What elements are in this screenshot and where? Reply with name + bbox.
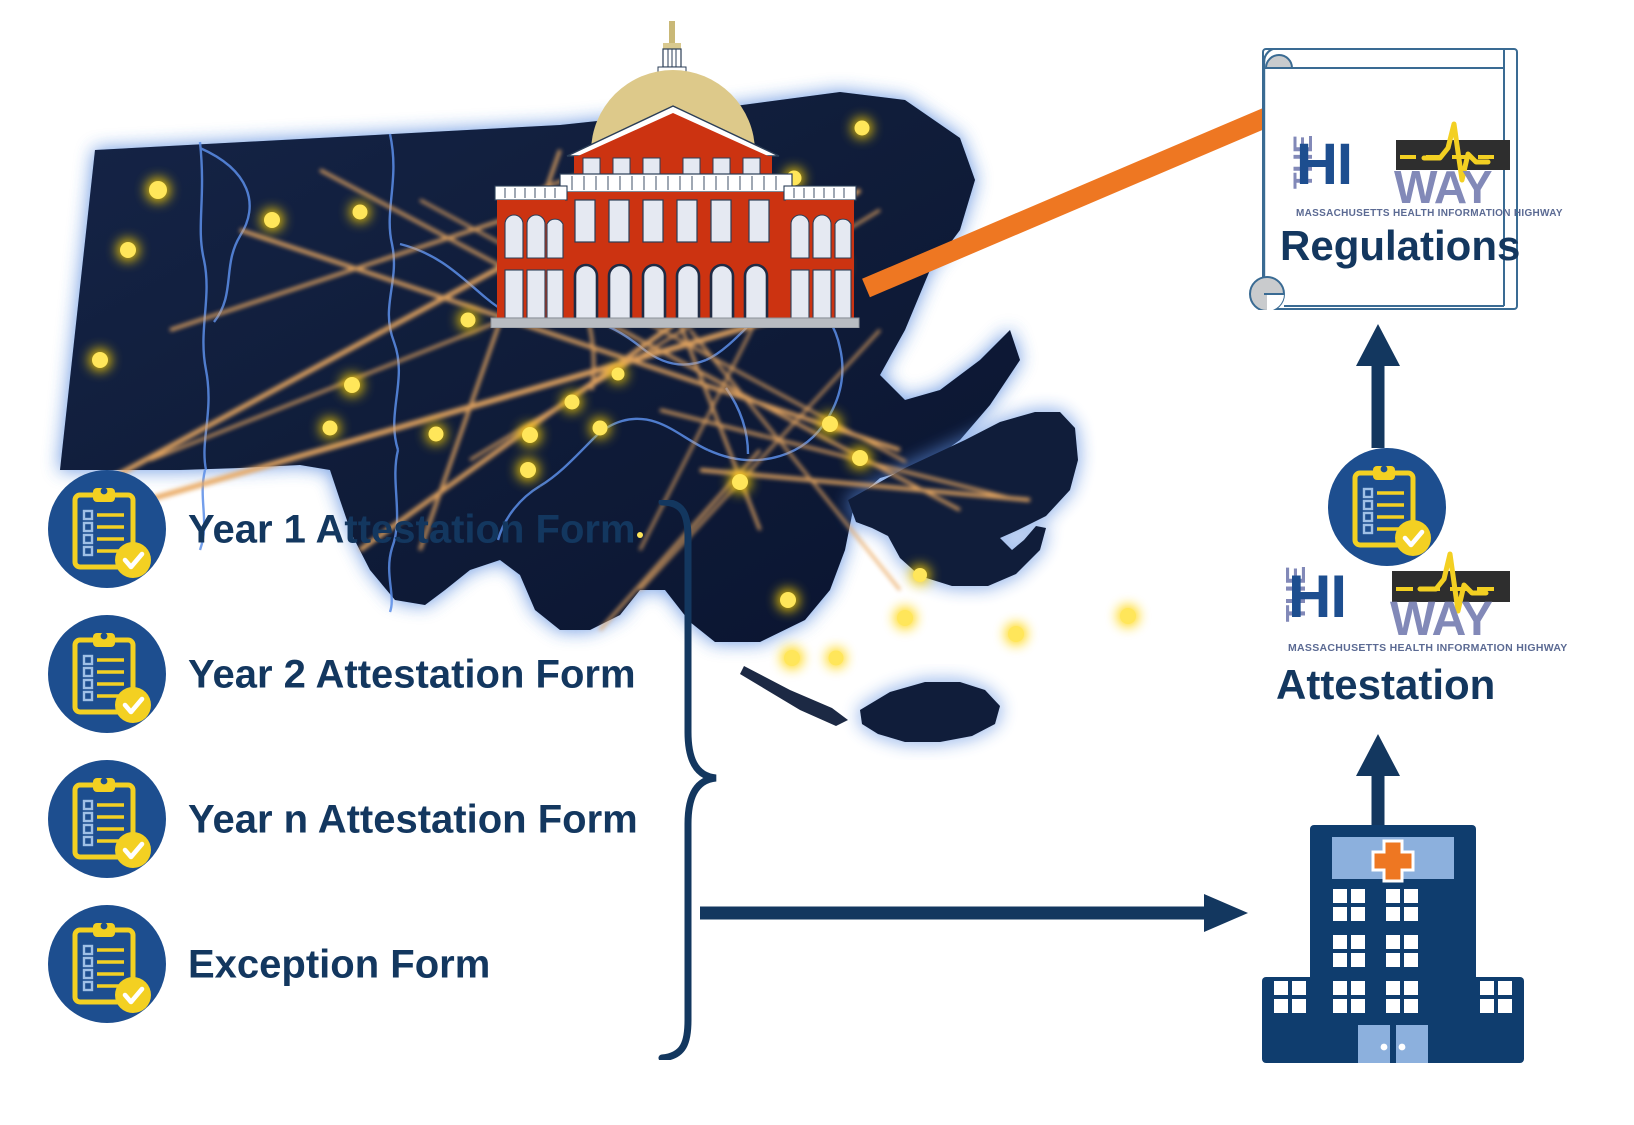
list-item[interactable]: Year 2 Attestation Form <box>40 615 700 735</box>
hiway-logo-regulations: THE HI WAY MASSACHUSETTS HEALTH INFORMAT… <box>1274 134 1510 210</box>
hiway-logo-attestation: THE HI WAY MASSACHUSETTS HEALTH INFORMAT… <box>1266 565 1512 645</box>
form-label: Exception Form <box>188 943 490 988</box>
list-item[interactable]: Year 1 Attestation Form <box>40 470 700 590</box>
list-item[interactable]: Exception Form <box>40 905 700 1025</box>
curly-brace-forms-group <box>640 500 730 1060</box>
logo-hi-text: HI <box>1296 136 1352 194</box>
regulations-title: Regulations <box>1280 222 1520 270</box>
list-item[interactable]: Year n Attestation Form <box>40 760 700 880</box>
clipboard-check-icon <box>48 615 166 733</box>
attestation-block: THE HI WAY MASSACHUSETTS HEALTH INFORMAT… <box>1262 565 1512 715</box>
attestation-title: Attestation <box>1276 661 1495 709</box>
infographic-canvas: THE HI WAY MASSACHUSETTS HEALTH INFORMAT… <box>0 0 1634 1125</box>
clipboard-check-icon <box>48 905 166 1023</box>
form-label: Year 2 Attestation Form <box>188 653 636 698</box>
form-label: Year 1 Attestation Form <box>188 508 636 553</box>
clipboard-check-icon <box>48 760 166 878</box>
arrow-forms-to-hospital <box>700 888 1260 938</box>
logo-hi-text: HI <box>1288 567 1346 627</box>
clipboard-check-icon <box>48 470 166 588</box>
forms-list: Year 1 Attestation Form <box>40 470 700 1070</box>
logo-tagline: MASSACHUSETTS HEALTH INFORMATION HIGHWAY <box>1296 208 1563 219</box>
logo-tagline: MASSACHUSETTS HEALTH INFORMATION HIGHWAY <box>1288 642 1568 654</box>
arrow-attestation-to-regulations <box>1348 318 1408 448</box>
arrow-hospital-to-attestation <box>1348 728 1408 838</box>
hospital-building-icon <box>1262 825 1524 1065</box>
logo-way-text: WAY <box>1394 164 1492 210</box>
logo-way-text: WAY <box>1390 596 1492 644</box>
regulations-document[interactable]: THE HI WAY MASSACHUSETTS HEALTH INFORMAT… <box>1248 48 1516 310</box>
form-label: Year n Attestation Form <box>188 798 638 843</box>
state-house-icon <box>487 18 862 328</box>
